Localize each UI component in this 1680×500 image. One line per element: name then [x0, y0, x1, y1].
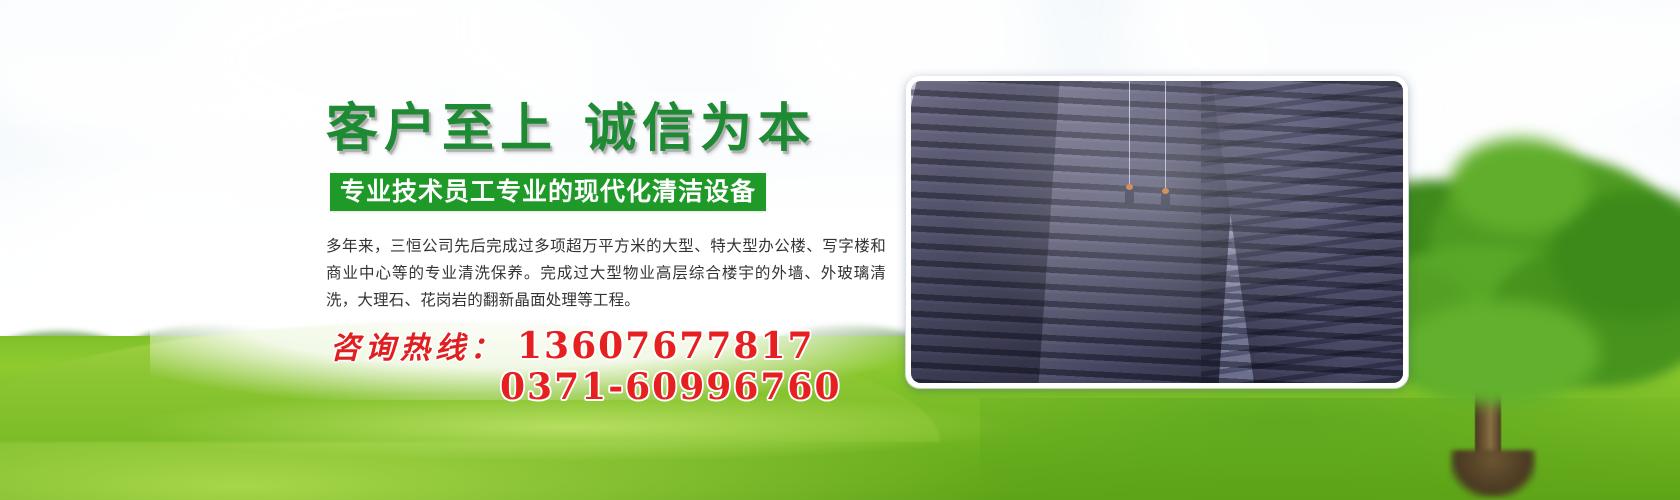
headline-part-left: 客户至上	[326, 98, 558, 159]
photo-vignette	[911, 81, 1403, 383]
tree-canopy	[1450, 138, 1590, 233]
hotline-label: 咨询热线：	[330, 323, 505, 367]
page-title: 客户至上诚信为本	[326, 103, 816, 155]
subtitle-text: 专业技术员工专业的现代化清洁设备	[340, 177, 756, 206]
subtitle-banner: 专业技术员工专业的现代化清洁设备	[330, 173, 766, 211]
building-photo-card	[906, 76, 1408, 388]
building-photo-image	[911, 81, 1403, 383]
hero-banner: 客户至上诚信为本 专业技术员工专业的现代化清洁设备 多年来，三恒公司先后完成过多…	[0, 0, 1680, 500]
hotline-row-primary: 咨询热线： 13607677817	[330, 323, 815, 367]
tree-canopy	[1400, 300, 1600, 405]
tree-trunk-base	[1450, 450, 1536, 498]
headline-part-right: 诚信为本	[584, 98, 816, 159]
hotline-number-primary[interactable]: 13607677817	[517, 325, 815, 367]
hotline-number-secondary[interactable]: 0371-60996760	[500, 366, 842, 408]
description-paragraph: 多年来，三恒公司先后完成过多项超万平方米的大型、特大型办公楼、写字楼和商业中心等…	[326, 233, 886, 314]
